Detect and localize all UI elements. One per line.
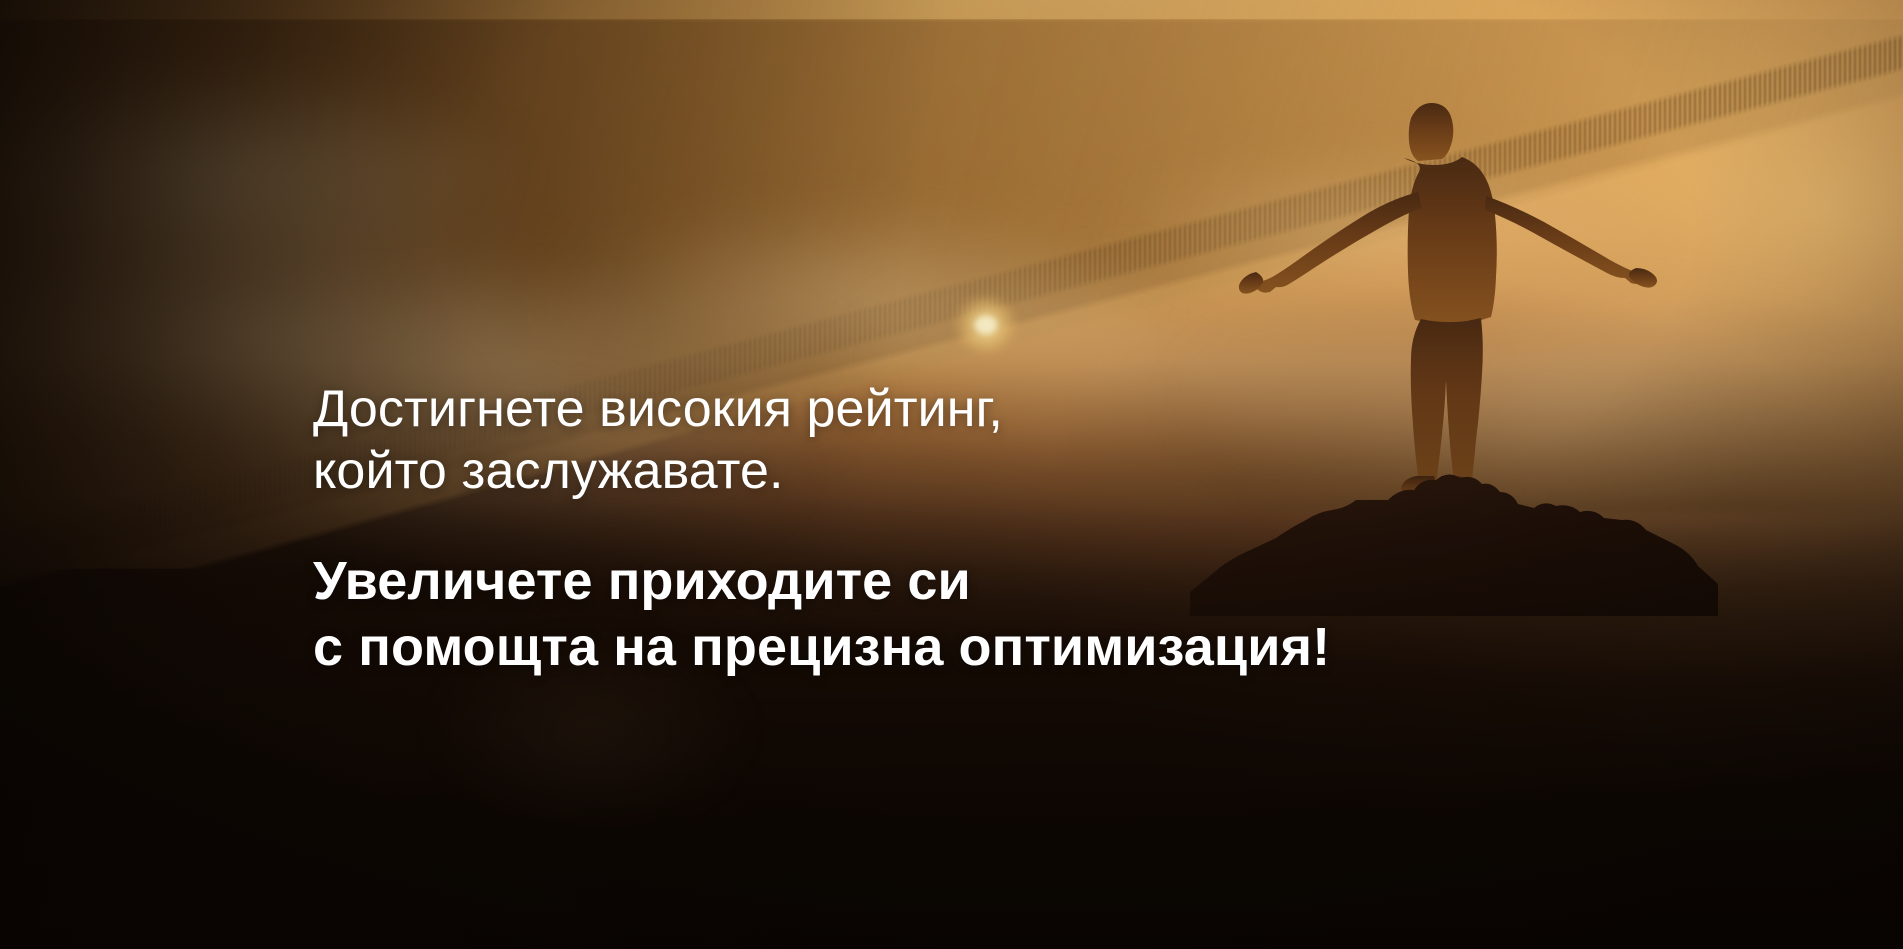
banner-copy-block: Достигнете високия рейтинг, който заслуж… [313,378,1413,680]
banner-headline: Достигнете високия рейтинг, който заслуж… [313,378,1413,502]
banner-subheadline: Увеличете приходите си с помощта на прец… [313,502,1413,680]
hero-banner: Достигнете високия рейтинг, който заслуж… [0,0,1903,949]
